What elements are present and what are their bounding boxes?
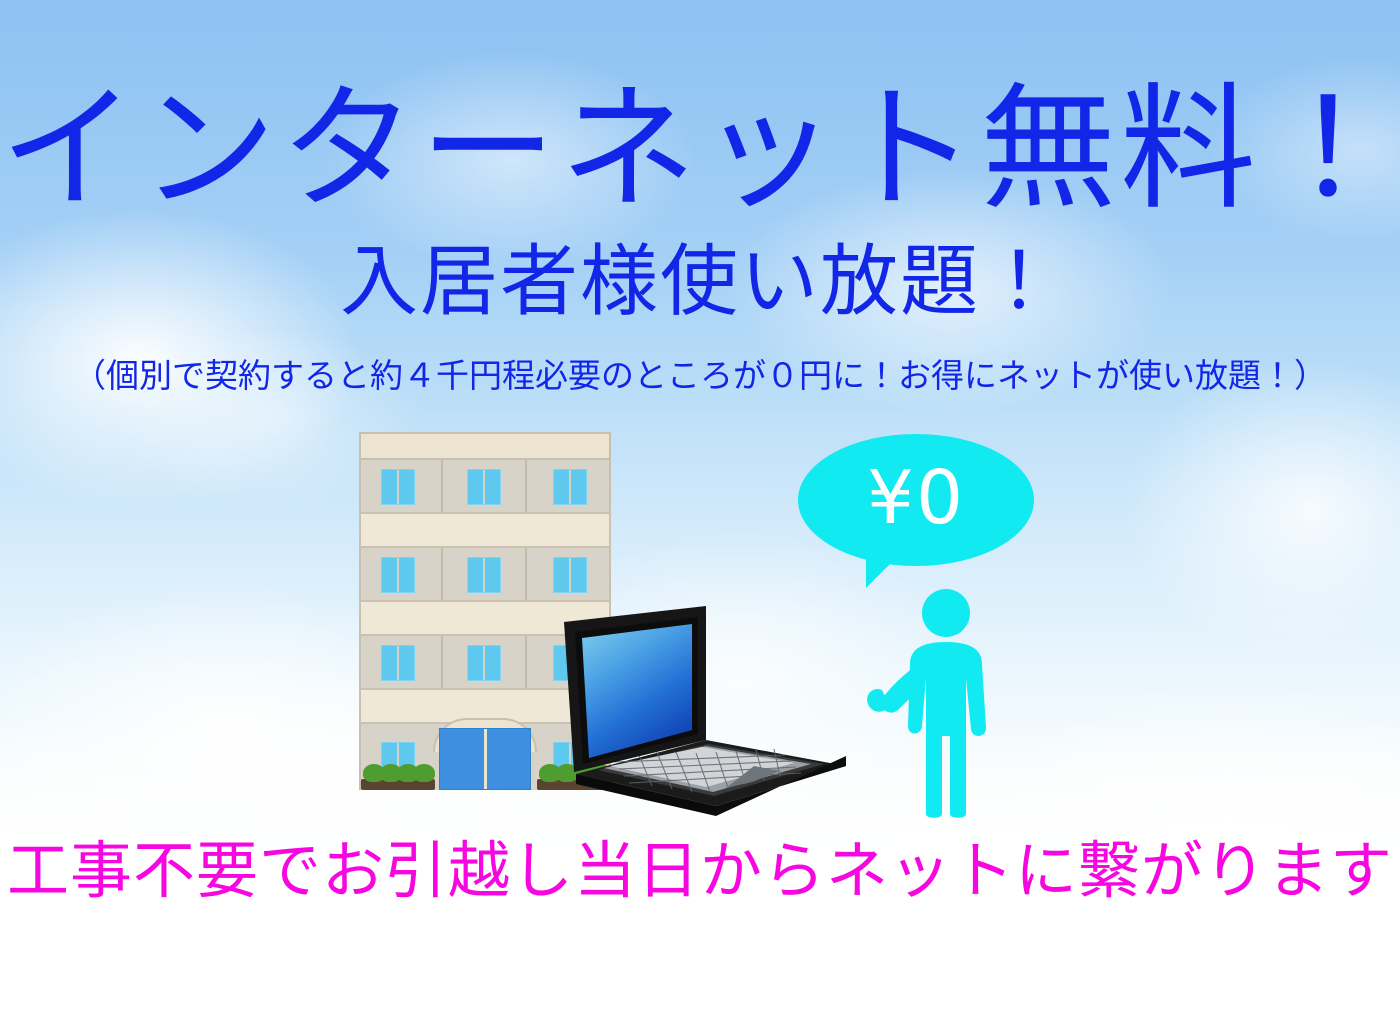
building-window	[381, 645, 415, 681]
building-window	[381, 557, 415, 593]
building-entrance-door	[439, 728, 531, 790]
laptop-computer-icon	[556, 606, 846, 826]
building-band	[359, 512, 611, 548]
person-pictogram-icon	[858, 586, 1028, 818]
building-window	[467, 557, 501, 593]
headline-text: インターネット無料！	[0, 82, 1400, 218]
building-floor	[359, 548, 611, 600]
building-window	[553, 469, 587, 505]
building-window	[381, 469, 415, 505]
bush-planter	[361, 766, 435, 790]
building-roof	[359, 432, 611, 460]
note-text: （個別で契約すると約４千円程必要のところが０円に！お得にネットが使い放題！）	[0, 356, 1400, 396]
building-floor	[359, 460, 611, 512]
building-window	[553, 557, 587, 593]
bubble-price-text: ¥0	[867, 461, 965, 539]
footer-text: 工事不要でお引越し当日からネットに繋がります	[0, 840, 1400, 902]
subheadline-text: 入居者様使い放題！	[0, 243, 1400, 321]
building-window	[467, 469, 501, 505]
poster-canvas: インターネット無料！ 入居者様使い放題！ （個別で契約すると約４千円程必要のとこ…	[0, 0, 1400, 1014]
building-window	[467, 645, 501, 681]
speech-bubble-icon: ¥0	[798, 434, 1034, 566]
speech-bubble-tail	[866, 548, 906, 588]
